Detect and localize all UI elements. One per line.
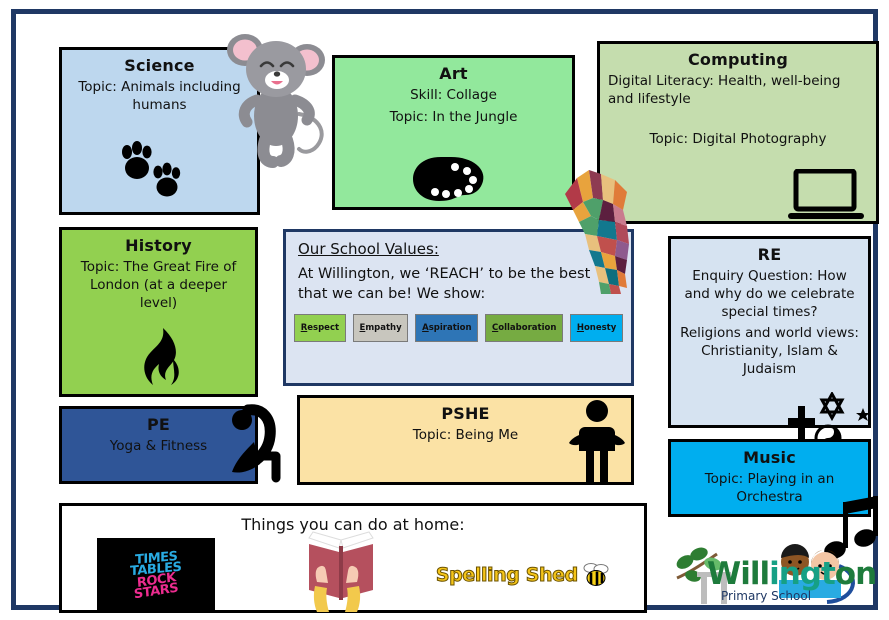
- times-tables-rock-stars-logo[interactable]: TIMES TABLES ROCK STARS: [97, 538, 215, 612]
- subject-text-pe: Yoga & Fitness: [70, 438, 247, 456]
- subject-enquiry-re: Enquiry Question: How and why do we cele…: [679, 268, 860, 321]
- poster-frame: Science Topic: Animals including humans: [11, 9, 878, 610]
- yoga-figure-icon: [224, 402, 286, 485]
- subject-religions-re: Religions and world views: Christianity,…: [679, 325, 860, 378]
- mouse-illustration: [221, 22, 331, 172]
- reach-chip-row: Respect Empathy Aspiration Collaboration…: [294, 314, 623, 342]
- subject-title-music: Music: [671, 448, 868, 467]
- logo-name-part1: Will: [707, 556, 769, 592]
- reach-initial-h: H: [577, 323, 584, 333]
- reach-chip-collaboration: Collaboration: [485, 314, 563, 342]
- school-logo-name: Willington: [707, 556, 876, 592]
- reach-initial-a: A: [422, 323, 429, 333]
- subject-title-re: RE: [671, 245, 868, 264]
- flame-icon: [133, 327, 185, 389]
- subject-literacy-computing: Digital Literacy: Health, well-being and…: [608, 73, 868, 109]
- paint-palette-icon: [411, 155, 491, 203]
- logo-name-part3: on: [835, 556, 876, 592]
- reach-chip-honesty: Honesty: [570, 314, 623, 342]
- reading-book-illustration: [301, 528, 381, 616]
- logo-name-part2: ingt: [769, 556, 835, 592]
- reach-rest-aspiration: spiration: [429, 323, 472, 333]
- person-figure-icon: [569, 399, 625, 483]
- reach-rest-collaboration: ollaboration: [498, 323, 556, 333]
- subject-topic-art: Topic: In the Jungle: [343, 109, 564, 127]
- subject-title-art: Art: [335, 64, 572, 83]
- curriculum-poster: Science Topic: Animals including humans: [0, 0, 889, 619]
- school-logo: Willington Primary School: [671, 534, 883, 616]
- reach-rest-respect: espect: [307, 323, 339, 333]
- paw-prints-icon: [111, 138, 191, 198]
- colourful-hand-illustration: [557, 164, 662, 294]
- spelling-shed-logo[interactable]: Spelling Shed: [436, 563, 609, 587]
- subject-text-history: Topic: The Great Fire of London (at a de…: [70, 259, 247, 312]
- reach-chip-aspiration: Aspiration: [415, 314, 478, 342]
- reach-chip-respect: Respect: [294, 314, 346, 342]
- bee-icon: [583, 563, 609, 587]
- subject-skill-art: Skill: Collage: [343, 87, 564, 105]
- reach-chip-empathy: Empathy: [353, 314, 409, 342]
- subject-topic-computing: Topic: Digital Photography: [608, 131, 868, 149]
- school-logo-subtitle: Primary School: [721, 589, 811, 603]
- reach-rest-empathy: mpathy: [365, 323, 401, 333]
- subject-title-history: History: [62, 236, 255, 255]
- spelling-shed-label: Spelling Shed: [436, 564, 578, 586]
- laptop-icon: [786, 169, 866, 221]
- reach-rest-honesty: onesty: [584, 323, 616, 333]
- subject-title-computing: Computing: [600, 50, 876, 69]
